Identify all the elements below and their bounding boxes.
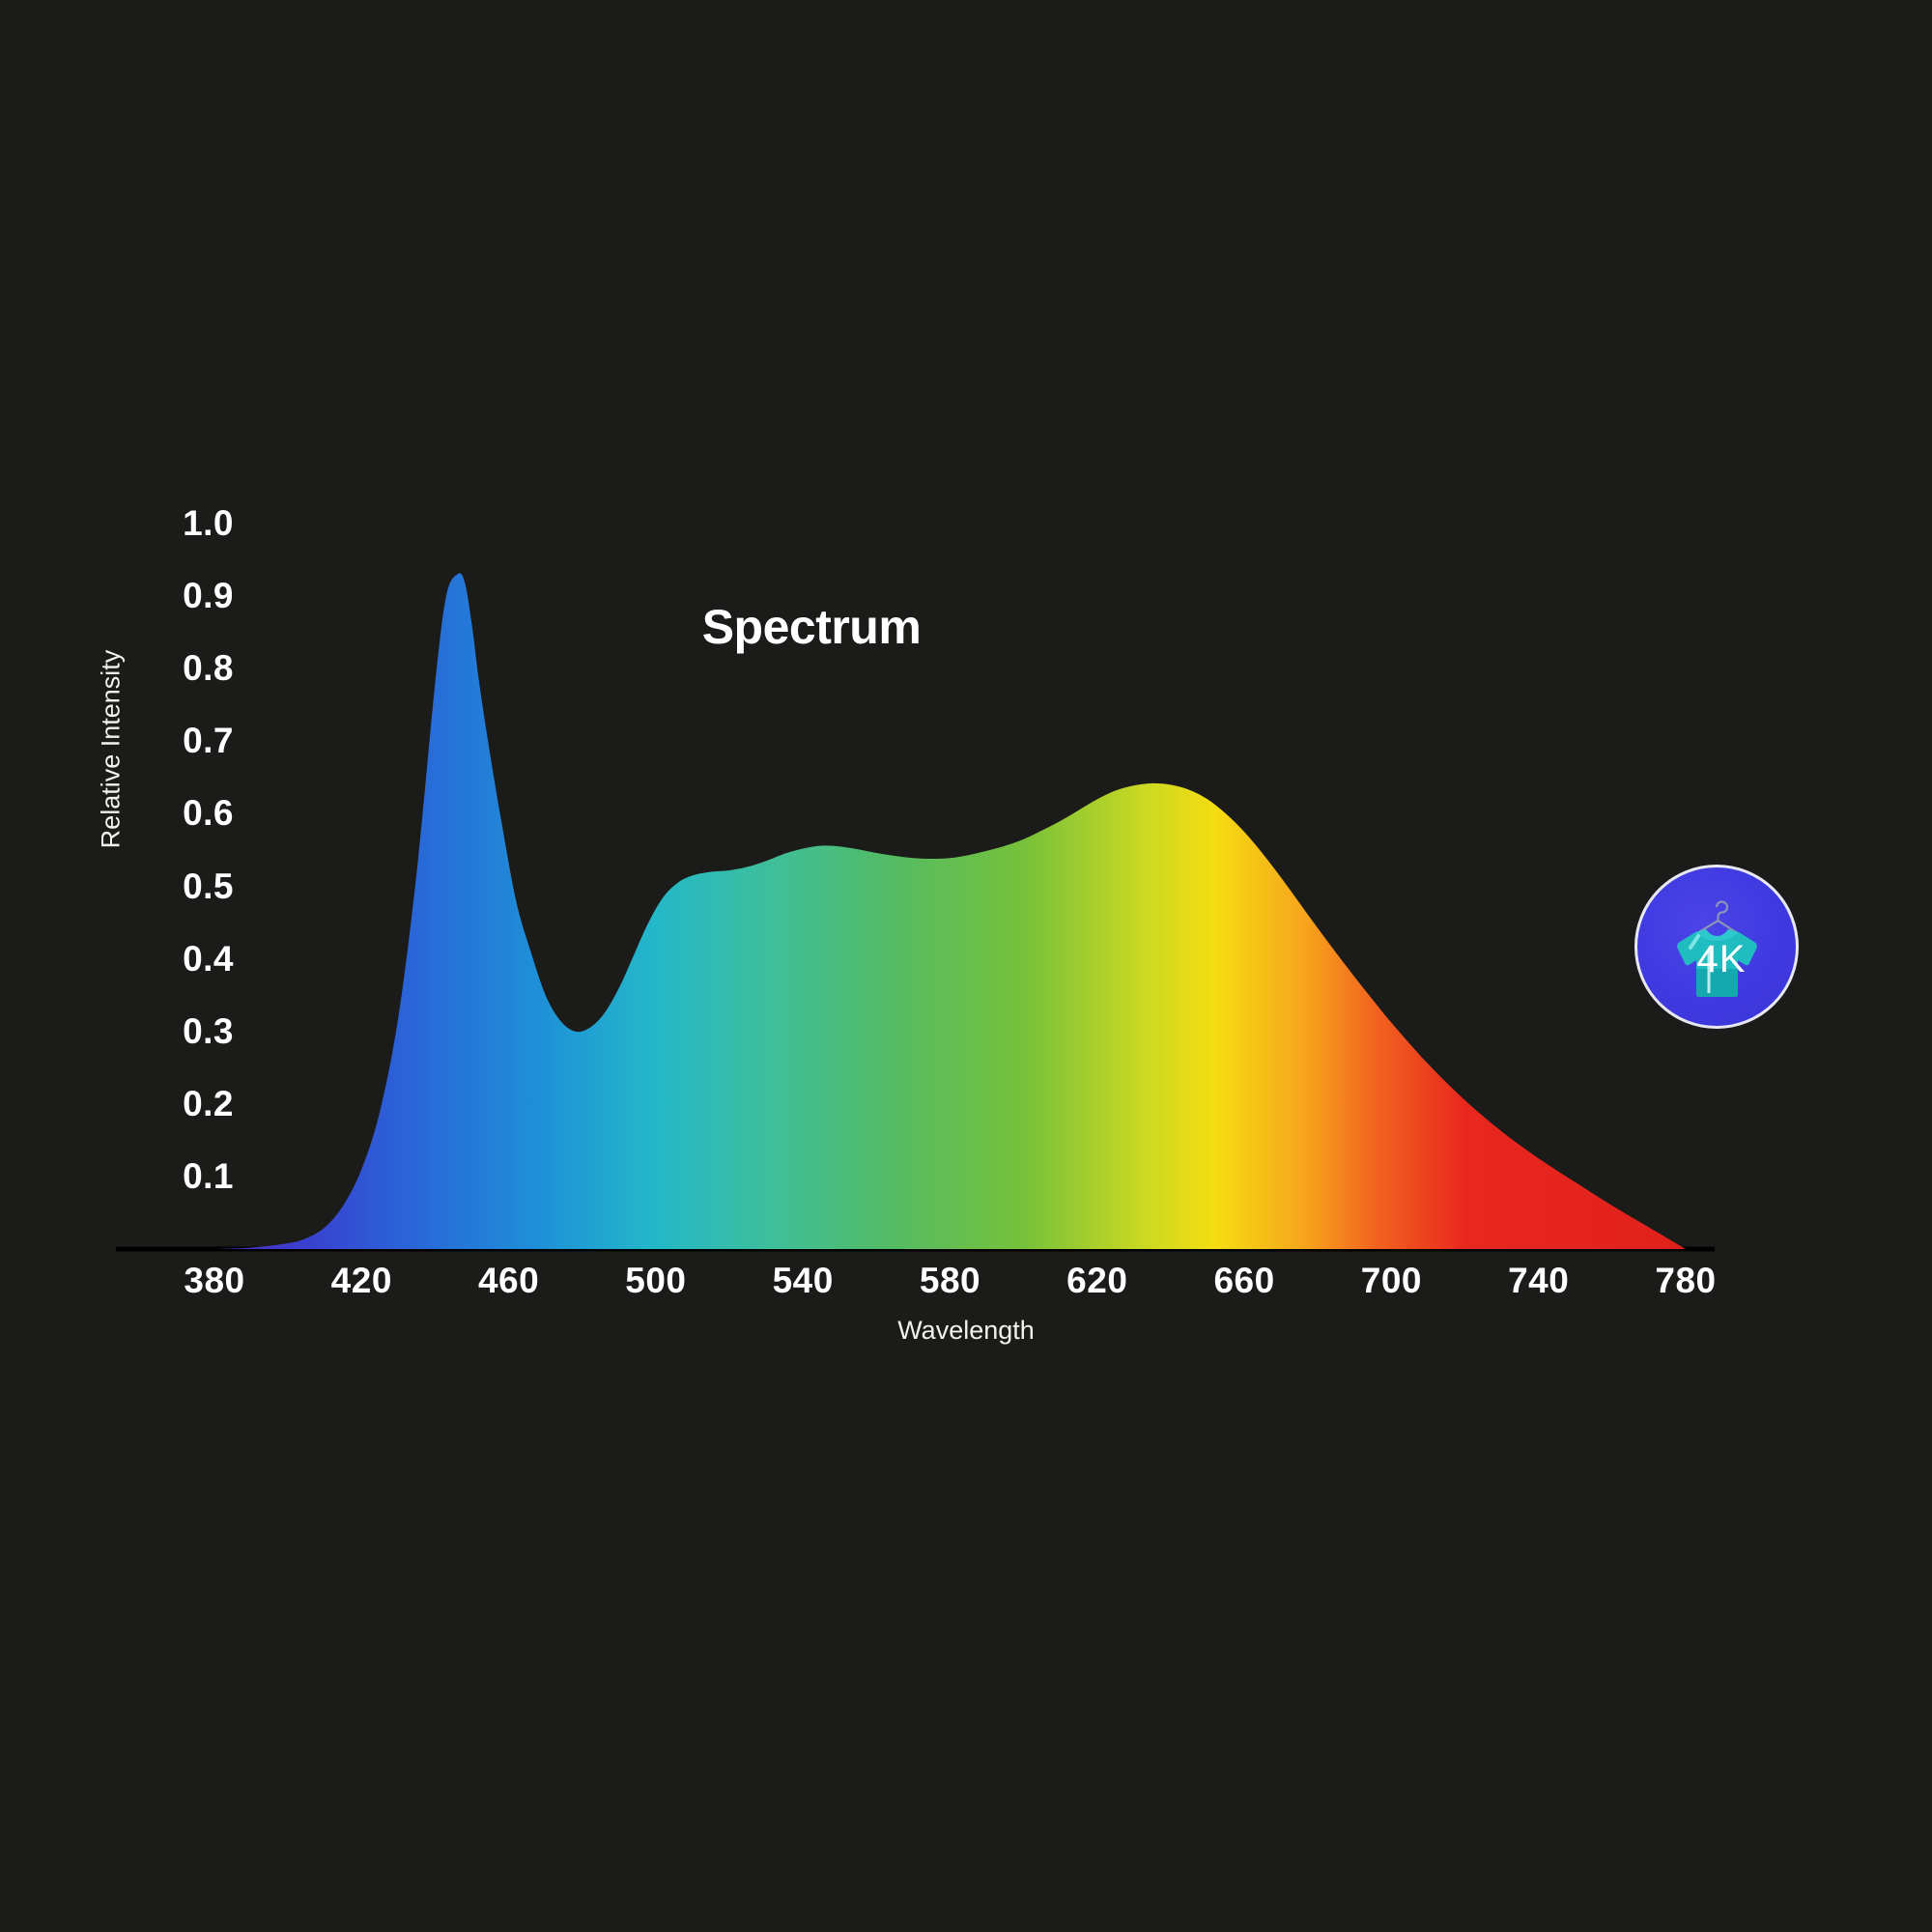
4k-tshirt-badge[interactable]: 4K [1634, 865, 1799, 1029]
x-tick-label: 500 [625, 1261, 686, 1301]
y-tick-label: 0.8 [147, 648, 234, 689]
y-tick-label: 1.0 [147, 503, 234, 544]
x-tick-label: 460 [478, 1261, 539, 1301]
x-tick-label: 540 [773, 1261, 834, 1301]
x-tick-label: 380 [184, 1261, 244, 1301]
page-title: Spectrum [0, 599, 1777, 655]
y-tick-label: 0.4 [147, 939, 234, 980]
x-axis-tick-labels: 380420460500540580620660700740780 [0, 1261, 1932, 1319]
y-tick-label: 0.5 [147, 867, 234, 907]
x-tick-label: 740 [1508, 1261, 1569, 1301]
badge-label: 4K [1634, 938, 1799, 981]
y-axis-tick-labels: 1.00.90.80.70.60.50.40.30.20.1 [147, 488, 234, 1251]
x-tick-label: 580 [920, 1261, 980, 1301]
x-tick-label: 420 [331, 1261, 392, 1301]
y-tick-label: 0.6 [147, 793, 234, 834]
y-axis-title: Relative Intensity [97, 595, 127, 904]
y-tick-label: 0.1 [147, 1156, 234, 1197]
x-tick-label: 620 [1066, 1261, 1127, 1301]
y-tick-label: 0.7 [147, 721, 234, 761]
x-tick-label: 780 [1655, 1261, 1716, 1301]
x-tick-label: 700 [1361, 1261, 1422, 1301]
y-tick-label: 0.9 [147, 576, 234, 616]
x-axis-title: Wavelength [0, 1316, 1932, 1346]
x-tick-label: 660 [1213, 1261, 1274, 1301]
spectrum-chart-page: Spectrum [0, 0, 1932, 1932]
spectrum-area-path [214, 573, 1686, 1249]
y-tick-label: 0.3 [147, 1011, 234, 1052]
y-tick-label: 0.2 [147, 1084, 234, 1124]
